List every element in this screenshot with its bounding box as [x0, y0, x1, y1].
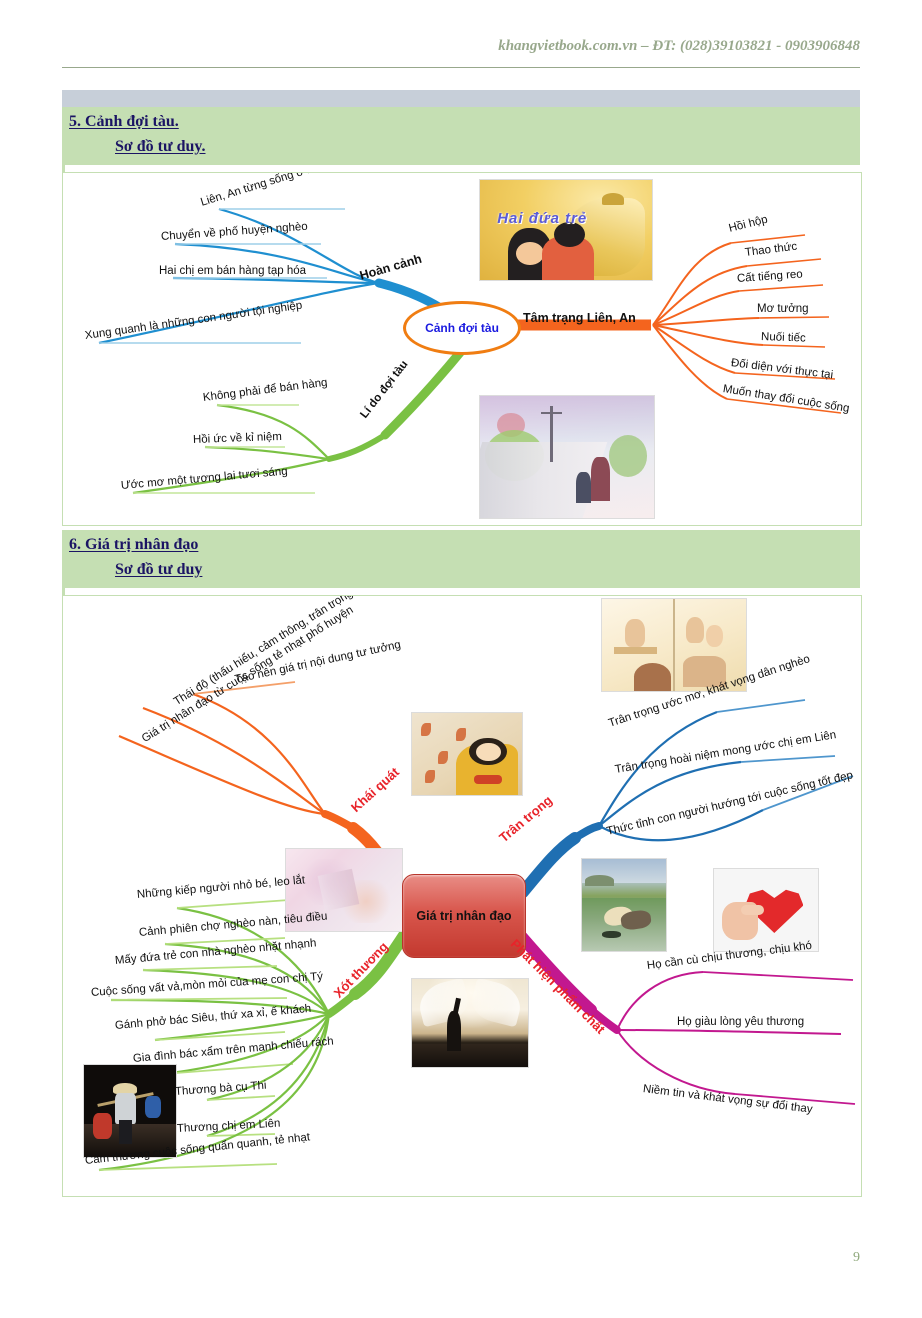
illustration-street-vendor — [83, 1064, 177, 1158]
mindmap-1-frame: Hai đứa trẻ Cảnh đợi tàu Hoàn cảnh Lí do… — [62, 172, 862, 526]
page-number: 9 — [853, 1250, 860, 1266]
section-5-grey-band — [62, 90, 860, 107]
section-5-green-band: 5. Cảnh đợi tàu. Sơ đồ tư duy. — [62, 107, 860, 165]
leaf-phatien-2: Họ giàu lòng yêu thương — [677, 1016, 804, 1028]
leaf-tamtrang-4: Mơ tưởng — [757, 303, 809, 315]
mindmap-2-center-label: Giá trị nhân đạo — [416, 909, 511, 923]
leaf-hoancanh-3: Hai chị em bán hàng tạp hóa — [159, 265, 306, 277]
section-5-subtitle: Sơ đồ tư duy. — [115, 138, 206, 156]
section-5-title: 5. Cảnh đợi tàu. — [69, 113, 179, 131]
illustration-girl-autumn — [411, 712, 523, 796]
illustration-rice-field — [581, 858, 667, 952]
illustration-hand-heart — [713, 868, 819, 952]
leaf-tamtrang-5: Nuối tiếc — [761, 331, 806, 345]
section-6-title: 6. Giá trị nhân đạo — [69, 536, 198, 554]
mindmap-1-center-node[interactable]: Cảnh đợi tàu — [403, 301, 521, 355]
header-divider — [62, 67, 860, 68]
illustration-two-kids — [601, 598, 747, 692]
illustration-light-silhouette — [411, 978, 529, 1068]
mindmap-2-frame: Giá trị nhân đạo Khái quát Trân trọng Xó… — [62, 595, 862, 1197]
illustration-railway-watercolor — [479, 395, 655, 519]
section-6-subtitle: Sơ đồ tư duy — [115, 561, 202, 579]
illustration-caption: Hai đứa trẻ — [497, 210, 587, 227]
mindmap-1-center-label: Cảnh đợi tàu — [425, 321, 499, 335]
branch-label-tam-trang: Tâm trạng Liên, An — [523, 311, 636, 325]
illustration-hai-dua-tre: Hai đứa trẻ — [479, 179, 653, 281]
site-header-text: khangvietbook.com.vn – ĐT: (028)39103821… — [498, 38, 860, 55]
page-header: khangvietbook.com.vn – ĐT: (028)39103821… — [62, 38, 860, 72]
section-6-green-band: 6. Giá trị nhân đạo Sơ đồ tư duy — [62, 530, 860, 588]
